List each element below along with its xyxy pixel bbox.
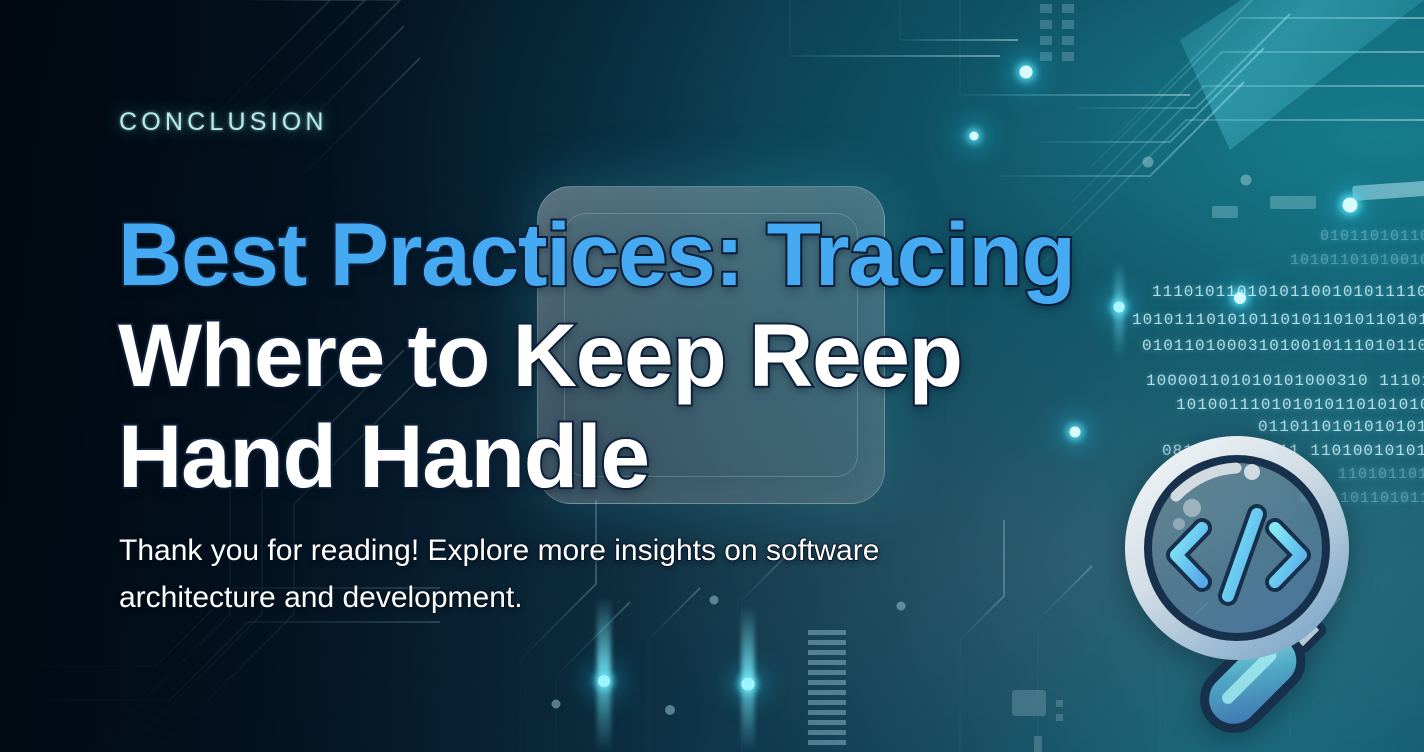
magnifying-glass-code-icon [1118,424,1424,734]
presentation-slide: 1110101101010110010101111010110101101 10… [0,0,1424,752]
headline-line-2: Where to Keep Reep [118,305,1298,406]
subtitle-text: Thank you for reading! Explore more insi… [119,527,1019,621]
eyebrow-label: CONCLUSION [119,108,328,137]
headline-line-1: Best Practices: Tracing [118,204,1298,305]
